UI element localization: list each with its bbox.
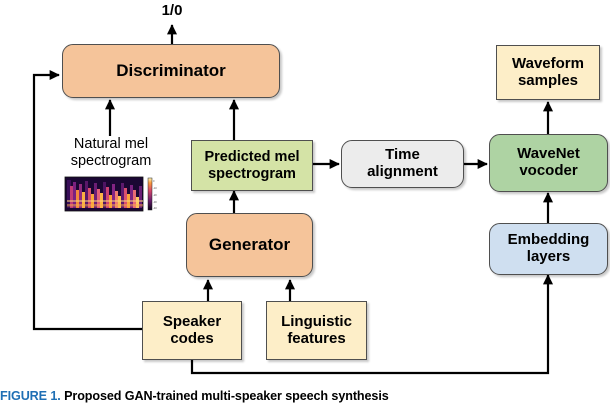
natural-mel-spectrogram-image: 0 -10 -20 -30 -40 (64, 176, 158, 212)
node-speaker-codes-label: Speaker codes (163, 314, 221, 348)
svg-text:-30: -30 (153, 200, 157, 204)
node-time-alignment-label: Time alignment (367, 147, 438, 181)
svg-text:-20: -20 (153, 193, 157, 197)
wire-speakercodes-to-embedding (192, 275, 548, 373)
node-wavenet-vocoder[interactable]: WaveNet vocoder (489, 134, 608, 192)
figure-caption-text: Proposed GAN-trained multi-speaker speec… (64, 389, 389, 403)
svg-text:0: 0 (153, 179, 155, 183)
node-speaker-codes[interactable]: Speaker codes (142, 301, 242, 360)
figure-caption: FIGURE 1. Proposed GAN-trained multi-spe… (0, 389, 610, 403)
natural-mel-label: Natural mel spectrogram (55, 136, 167, 169)
node-linguistic-features[interactable]: Linguistic features (266, 301, 367, 360)
figure-caption-number: FIGURE 1. (0, 389, 61, 403)
node-generator-label: Generator (209, 235, 290, 254)
mel-spectrogram-svg: 0 -10 -20 -30 -40 (64, 176, 158, 212)
svg-text:-40: -40 (153, 206, 157, 210)
node-embedding-layers[interactable]: Embedding layers (489, 223, 608, 275)
node-linguistic-features-label: Linguistic features (281, 314, 352, 348)
node-wavenet-vocoder-label: WaveNet vocoder (517, 146, 580, 180)
node-generator[interactable]: Generator (186, 213, 313, 277)
decision-output-label: 1/0 (142, 2, 202, 19)
svg-text:-10: -10 (153, 186, 157, 190)
node-discriminator-label: Discriminator (116, 61, 226, 80)
node-predicted-mel-label: Predicted mel spectrogram (204, 149, 299, 181)
node-waveform-samples-label: Waveform samples (512, 56, 584, 90)
node-discriminator[interactable]: Discriminator (62, 44, 280, 98)
node-waveform-samples[interactable]: Waveform samples (496, 45, 600, 100)
node-time-alignment[interactable]: Time alignment (341, 140, 464, 188)
node-embedding-layers-label: Embedding layers (508, 232, 590, 266)
figure-canvas: 1/0 Discriminator Natural mel spectrogra… (0, 0, 610, 406)
node-predicted-mel-spectrogram[interactable]: Predicted mel spectrogram (191, 140, 313, 191)
